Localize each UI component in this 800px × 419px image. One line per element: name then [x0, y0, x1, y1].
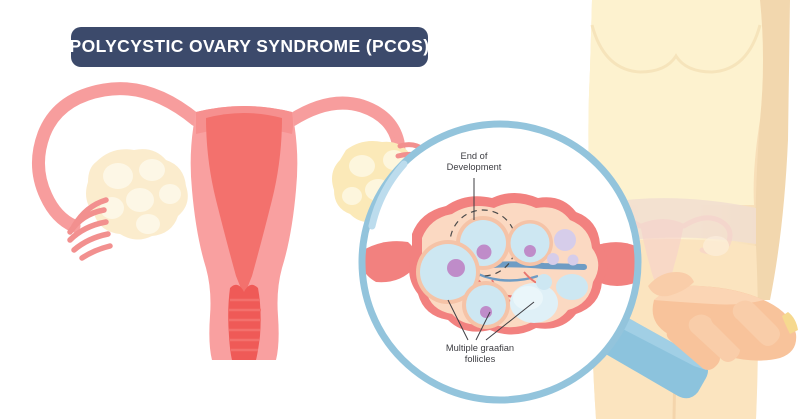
callout-end-of-development: End of Development [434, 151, 514, 174]
illustration-canvas: POLYCYSTIC OVARY SYNDROME (PCOS) End of … [0, 0, 800, 419]
garment-top [588, 0, 763, 205]
callout-multiple-graafian-follicles: Multiple graafian follicles [420, 343, 540, 366]
title-banner: POLYCYSTIC OVARY SYNDROME (PCOS) [71, 27, 428, 67]
page-title: POLYCYSTIC OVARY SYNDROME (PCOS) [70, 38, 430, 56]
